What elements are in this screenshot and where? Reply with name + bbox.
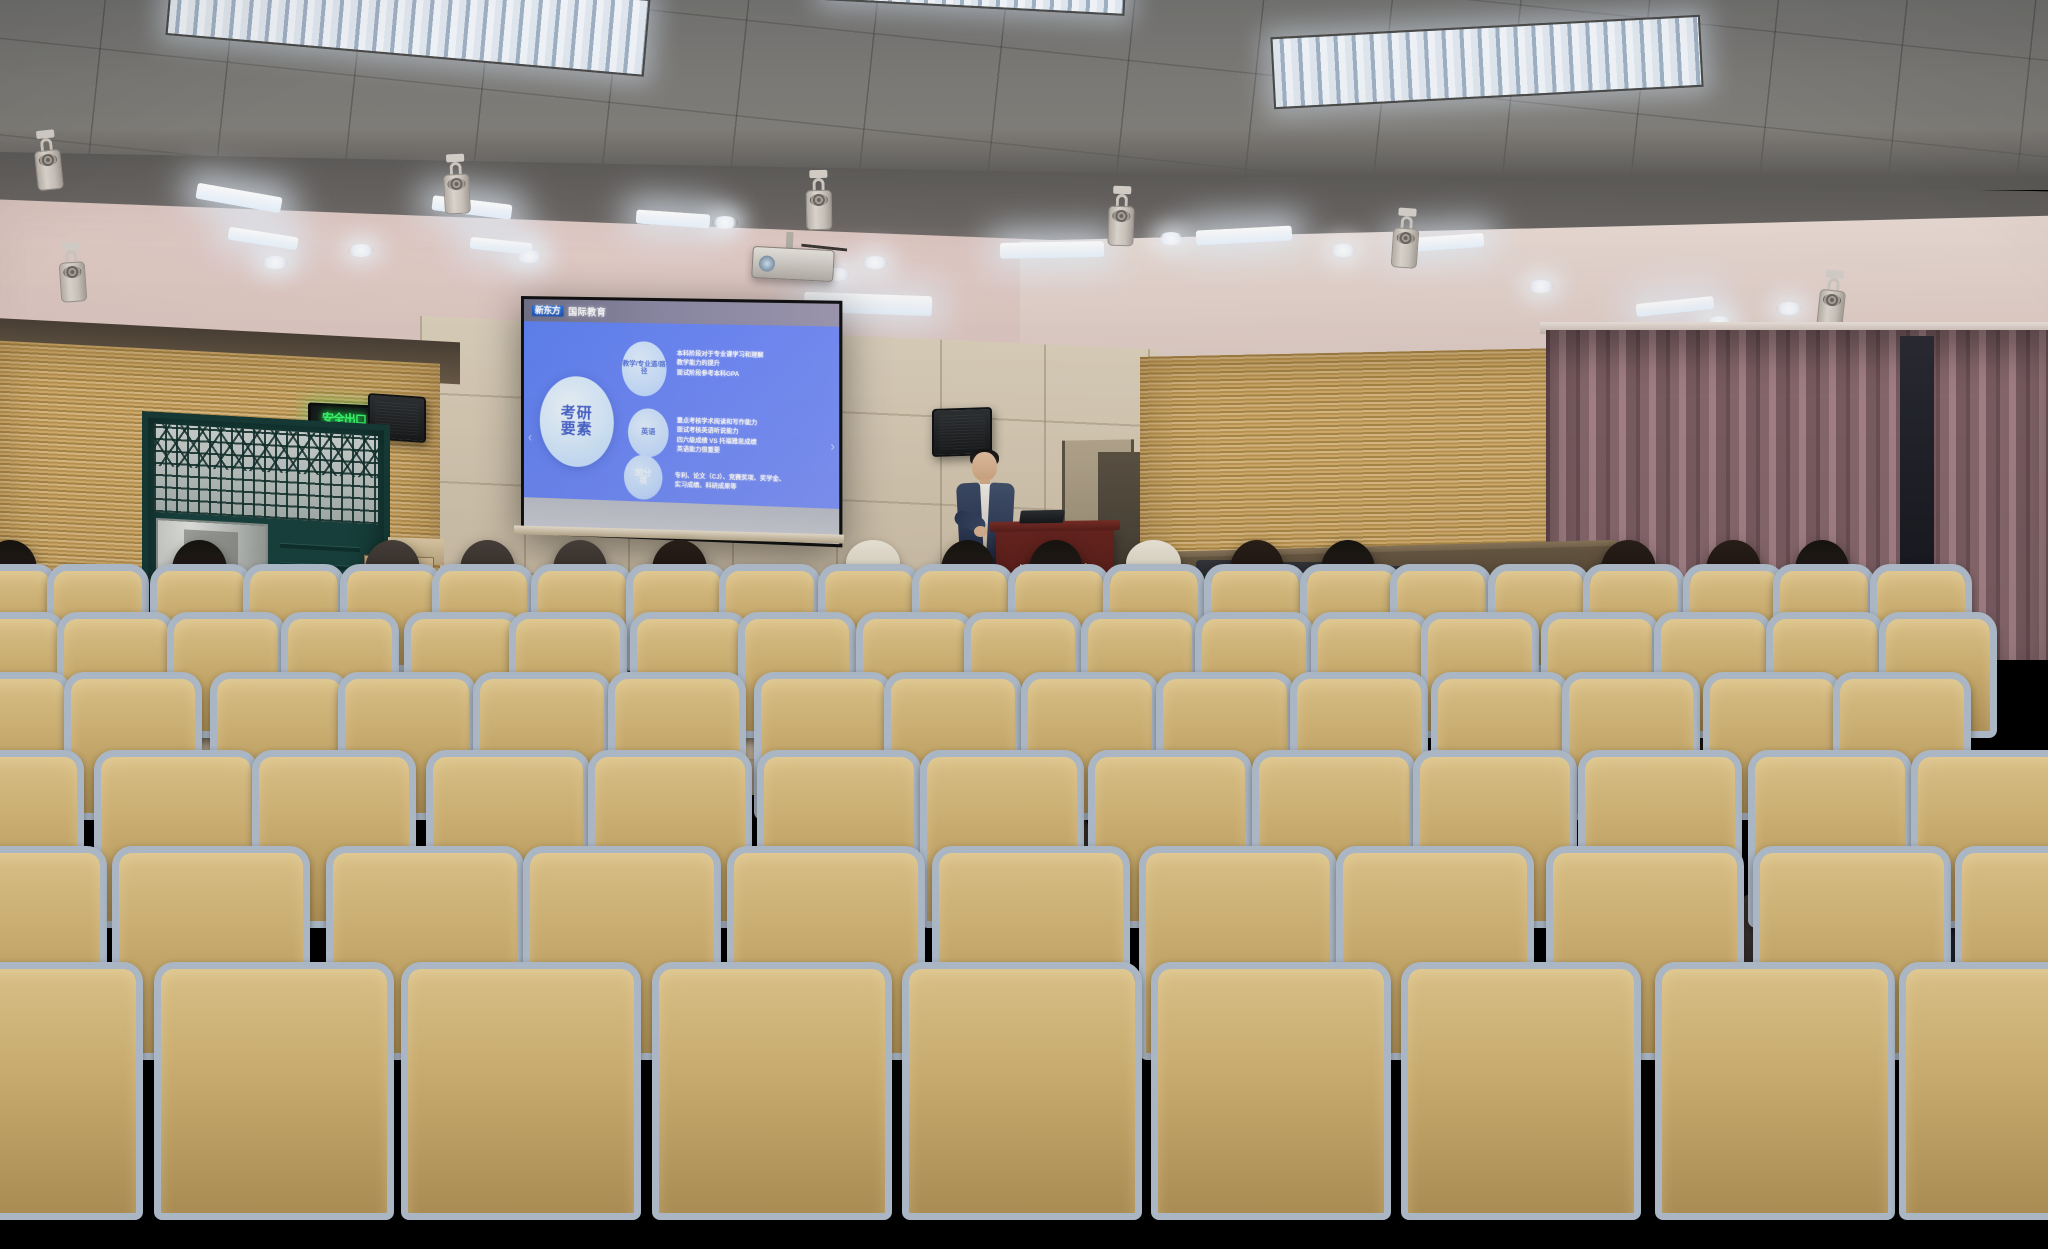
slide-branch-bubble-3: 加分 项 xyxy=(624,454,663,500)
slide-branch-2-text: 重点考核学术阅读和写作能力 面试考核英语听说能力 四六级成绩 VS 托福雅思成绩… xyxy=(677,417,758,457)
auditorium-seat[interactable] xyxy=(1408,968,1634,1218)
auditorium-seat[interactable] xyxy=(1662,968,1888,1218)
ceiling-downlight xyxy=(1528,280,1554,293)
projector-lens xyxy=(759,255,776,272)
door-transom-grille xyxy=(154,424,378,525)
ceiling-downlight xyxy=(348,244,374,257)
ceiling-downlight xyxy=(262,256,288,269)
auditorium-seat[interactable] xyxy=(408,968,634,1218)
track-spotlight xyxy=(443,173,471,214)
slide-main-bubble: 考研 要素 xyxy=(540,375,614,468)
projected-slide: 新东方 国际教育 考研 要素 教学/专业道/路径 英语 加分 项 xyxy=(524,299,839,544)
ceiling-downlight xyxy=(1776,302,1802,315)
track-spotlight xyxy=(806,190,833,230)
ceiling-troffer-light xyxy=(1270,15,1703,109)
slide-brand-label: 国际教育 xyxy=(568,304,606,318)
slide-body: 考研 要素 教学/专业道/路径 英语 加分 项 本科阶段对于专业课学习和理解 教… xyxy=(524,321,839,509)
track-spotlight xyxy=(34,149,64,191)
slide-branch-bubble-2: 英语 xyxy=(628,408,669,458)
ceiling-slot-light xyxy=(1000,241,1104,259)
projection-screen: 新东方 国际教育 考研 要素 教学/专业道/路径 英语 加分 项 xyxy=(521,296,842,547)
slide-prev-arrow-icon[interactable]: ‹ xyxy=(528,429,532,444)
new-oriental-logo-icon: 新东方 xyxy=(532,305,563,317)
podium-laptop xyxy=(1019,510,1065,524)
slide-next-arrow-icon[interactable]: › xyxy=(830,438,835,454)
track-spotlight xyxy=(1391,227,1420,269)
ceiling-troffer-light xyxy=(825,0,1127,16)
slide-branch-3-text: 专利、论文（CJ）、竞赛奖项、奖学金、 实习成绩、科研成果等 xyxy=(675,472,785,495)
track-spotlight xyxy=(1107,206,1134,247)
ceiling-downlight xyxy=(862,256,888,269)
presenter-hand xyxy=(974,526,987,537)
slide-branch-1-text: 本科阶段对于专业课学习和理解 教学能力的提升 面试阶段参考本科GPA xyxy=(677,350,764,380)
presenter-head xyxy=(972,452,997,481)
slide-branch-bubble-1: 教学/专业道/路径 xyxy=(622,341,667,397)
lecture-hall-photo: 安全出口 新东方 国际教育 考研 要素 xyxy=(0,0,2048,1249)
ceiling-troffer-light xyxy=(166,0,651,77)
track-spotlight xyxy=(59,261,88,303)
branch-3-line-2: 项 xyxy=(635,477,651,486)
projector-cable xyxy=(799,244,847,275)
auditorium-seat[interactable] xyxy=(1158,968,1384,1218)
ceiling-downlight xyxy=(1158,232,1184,245)
ceiling-downlight xyxy=(1330,244,1356,257)
ceiling-downlight xyxy=(712,216,738,229)
auditorium-seat[interactable] xyxy=(909,968,1135,1218)
auditorium-seat[interactable] xyxy=(0,968,136,1218)
audience-seating xyxy=(0,560,2048,1249)
auditorium-seat[interactable] xyxy=(659,968,885,1218)
ceiling-downlight xyxy=(516,250,542,263)
auditorium-seat[interactable] xyxy=(161,968,387,1218)
branch-1-bullet: 面试阶段参考本科GPA xyxy=(677,369,764,381)
auditorium-seat[interactable] xyxy=(1906,968,2048,1218)
main-bubble-line-2: 要素 xyxy=(561,421,593,438)
